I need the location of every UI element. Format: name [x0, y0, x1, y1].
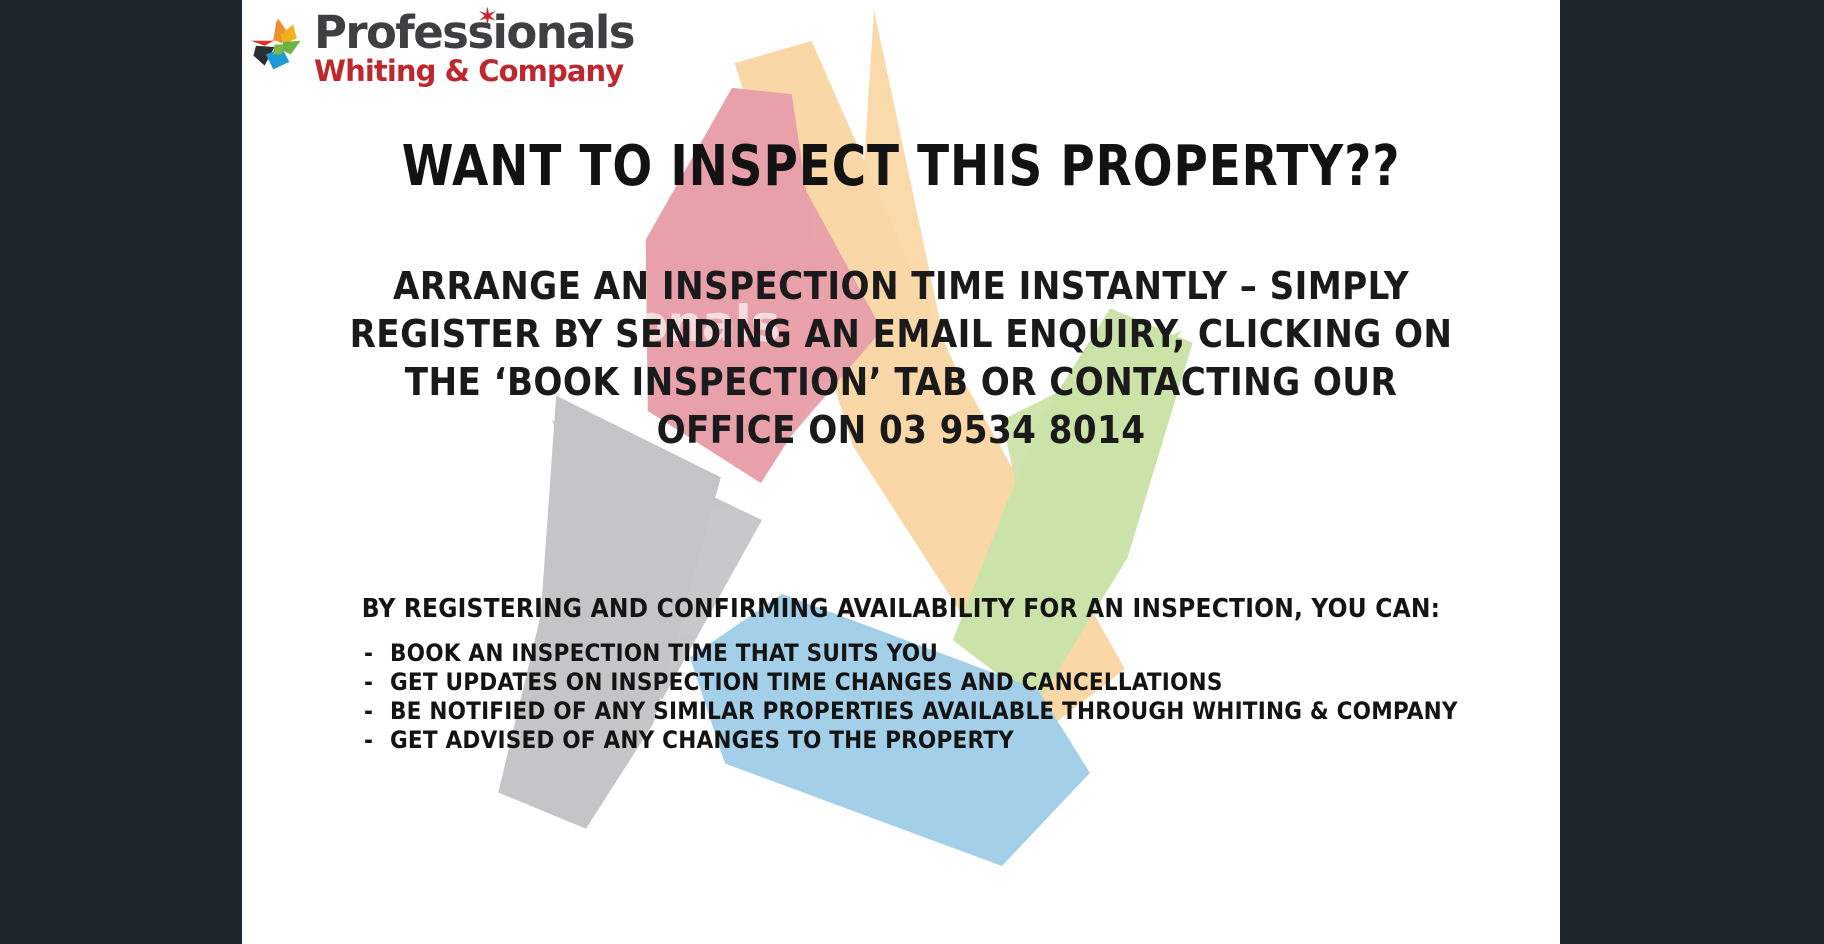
list-item-label: BE NOTIFIED OF ANY SIMILAR PROPERTIES AV…	[390, 697, 1458, 726]
list-item: - GET UPDATES ON INSPECTION TIME CHANGES…	[364, 668, 1514, 697]
list-item-label: BOOK AN INSPECTION TIME THAT SUITS YOU	[390, 639, 938, 668]
bullet-dash-icon: -	[364, 639, 390, 668]
letterbox-right	[1560, 0, 1824, 944]
bullet-dash-icon: -	[364, 726, 390, 755]
flyer-content: Professionals ✶ Whiting & Company WANT T…	[242, 0, 1560, 944]
professionals-star-icon	[246, 16, 308, 78]
list-item-label: GET ADVISED OF ANY CHANGES TO THE PROPER…	[390, 726, 1014, 755]
bullet-dash-icon: -	[364, 697, 390, 726]
logo-red-star-icon: ✶	[477, 4, 496, 29]
lead-line-2: REGISTER BY SENDING AN EMAIL ENQUIRY, CL…	[312, 310, 1490, 358]
lead-paragraph: ARRANGE AN INSPECTION TIME INSTANTLY – S…	[312, 262, 1490, 454]
bullet-dash-icon: -	[364, 668, 390, 697]
lead-line-3: THE ‘BOOK INSPECTION’ TAB OR CONTACTING …	[312, 358, 1490, 406]
logo-brand-text: Professionals	[314, 6, 634, 59]
page-headline: WANT TO INSPECT THIS PROPERTY??	[288, 134, 1514, 199]
letterbox-left	[0, 0, 242, 944]
list-item-label: GET UPDATES ON INSPECTION TIME CHANGES A…	[390, 668, 1223, 697]
lead-line-4: OFFICE ON 03 9534 8014	[312, 406, 1490, 454]
brand-logo: Professionals ✶ Whiting & Company	[242, 4, 572, 112]
logo-wordmark: Professionals ✶ Whiting & Company	[314, 10, 634, 86]
list-item: - GET ADVISED OF ANY CHANGES TO THE PROP…	[364, 726, 1514, 755]
list-item: - BE NOTIFIED OF ANY SIMILAR PROPERTIES …	[364, 697, 1514, 726]
benefits-intro: BY REGISTERING AND CONFIRMING AVAILABILI…	[242, 594, 1560, 624]
image-viewer: Professionals Professionals ✶	[0, 0, 1824, 944]
logo-office-line: Whiting & Company	[314, 57, 634, 86]
flyer-page: Professionals Professionals ✶	[242, 0, 1560, 944]
list-item: - BOOK AN INSPECTION TIME THAT SUITS YOU	[364, 639, 1514, 668]
lead-line-1: ARRANGE AN INSPECTION TIME INSTANTLY – S…	[312, 262, 1490, 310]
benefits-list: - BOOK AN INSPECTION TIME THAT SUITS YOU…	[364, 639, 1514, 755]
logo-brand-line: Professionals ✶	[314, 10, 634, 55]
